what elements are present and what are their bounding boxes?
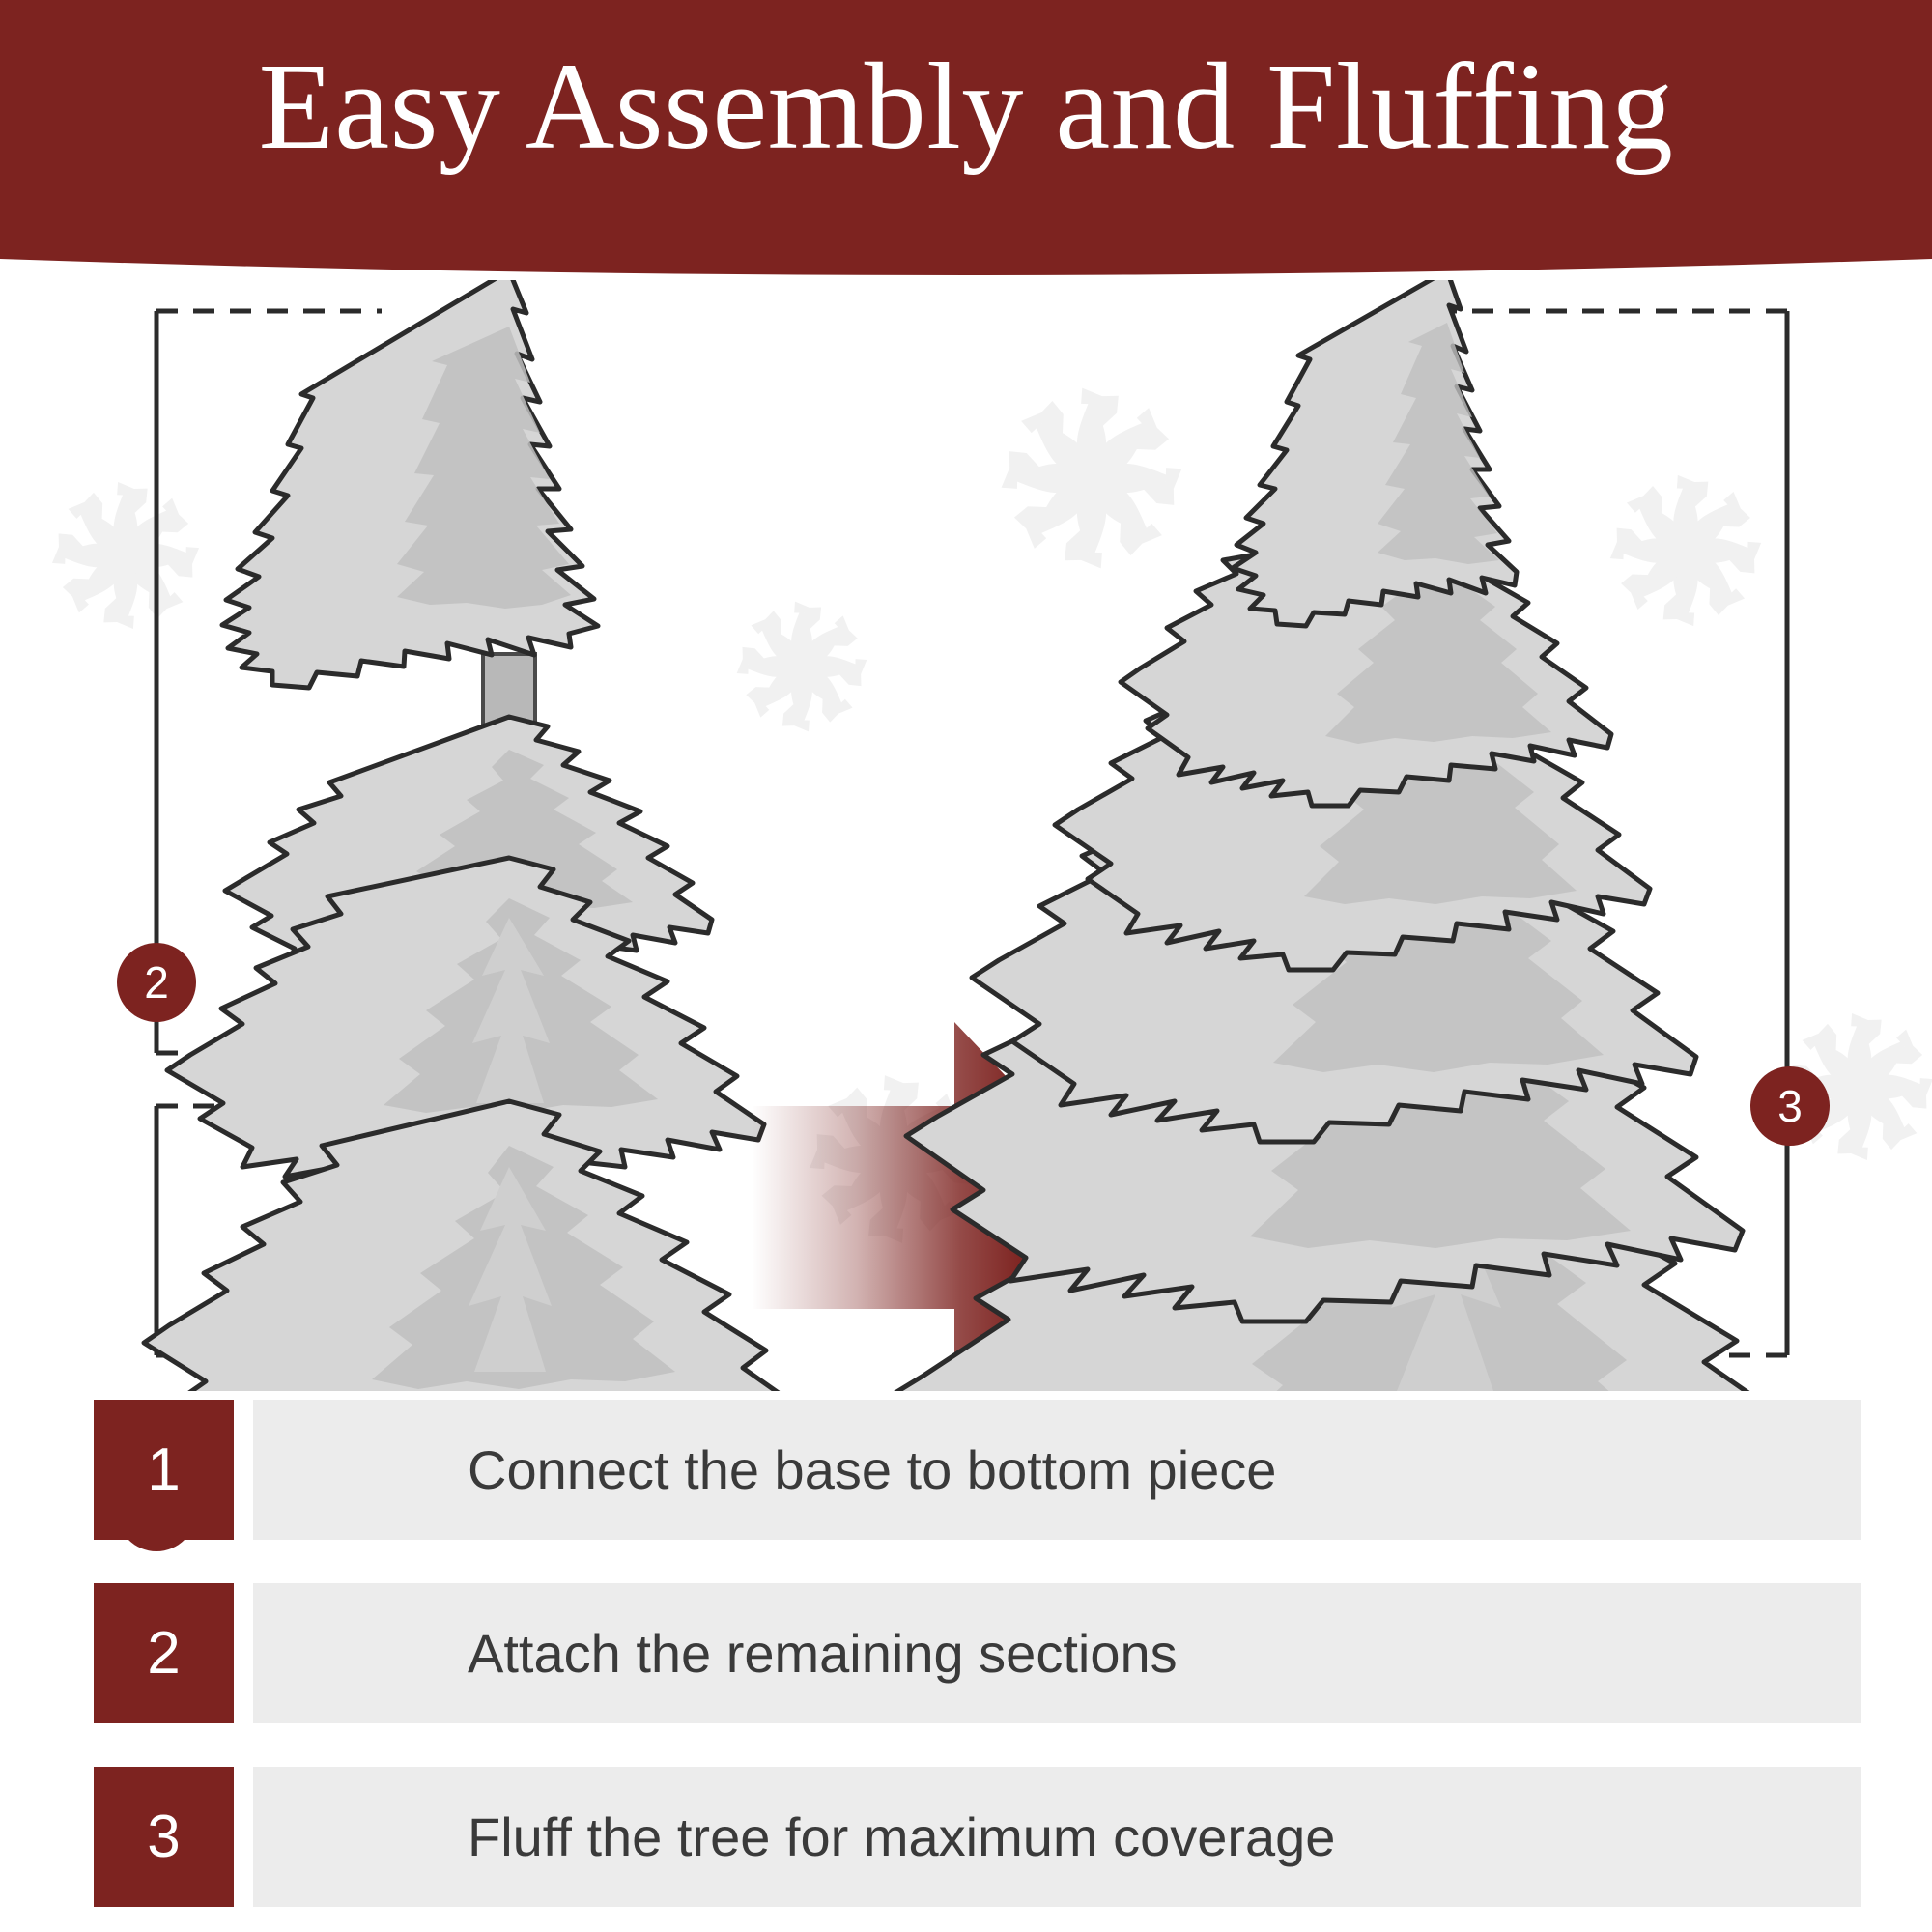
step-number-badge: 3 [94,1767,234,1907]
tree-section-top [222,280,598,688]
step-number-label: 1 [147,1440,180,1500]
step-text-bar: Connect the base to bottom piece [253,1400,1861,1540]
page-title: Easy Assembly and Fluffing [0,44,1932,168]
tree-tier-top [1233,280,1517,626]
assembly-illustration: 2 1 3 [0,280,1932,1391]
illustration-canvas [0,280,1932,1391]
step-number-label: 3 [147,1807,180,1867]
step-description: Connect the base to bottom piece [253,1443,1276,1497]
header-banner: Easy Assembly and Fluffing [0,0,1932,290]
step-text-bar: Attach the remaining sections [253,1583,1861,1723]
step-row: 2 Attach the remaining sections [94,1583,1861,1723]
bracket-badge-3-label: 3 [1777,1084,1803,1128]
tree-sections-stack [144,280,795,1391]
step-row: 3 Fluff the tree for maximum coverage [94,1767,1861,1907]
steps-list: 1 Connect the base to bottom piece 2 Att… [0,1394,1932,1896]
step-row: 1 Connect the base to bottom piece [94,1400,1861,1540]
step-number-badge: 1 [94,1400,234,1540]
bracket-badge-2: 2 [117,943,196,1022]
step-description: Fluff the tree for maximum coverage [253,1810,1335,1864]
bracket-badge-3: 3 [1750,1066,1830,1146]
step-text-bar: Fluff the tree for maximum coverage [253,1767,1861,1907]
bracket-badge-2-label: 2 [144,960,169,1005]
step-number-badge: 2 [94,1583,234,1723]
step-number-label: 2 [147,1624,180,1684]
assembled-tree [889,280,1837,1391]
step-description: Attach the remaining sections [253,1627,1178,1681]
